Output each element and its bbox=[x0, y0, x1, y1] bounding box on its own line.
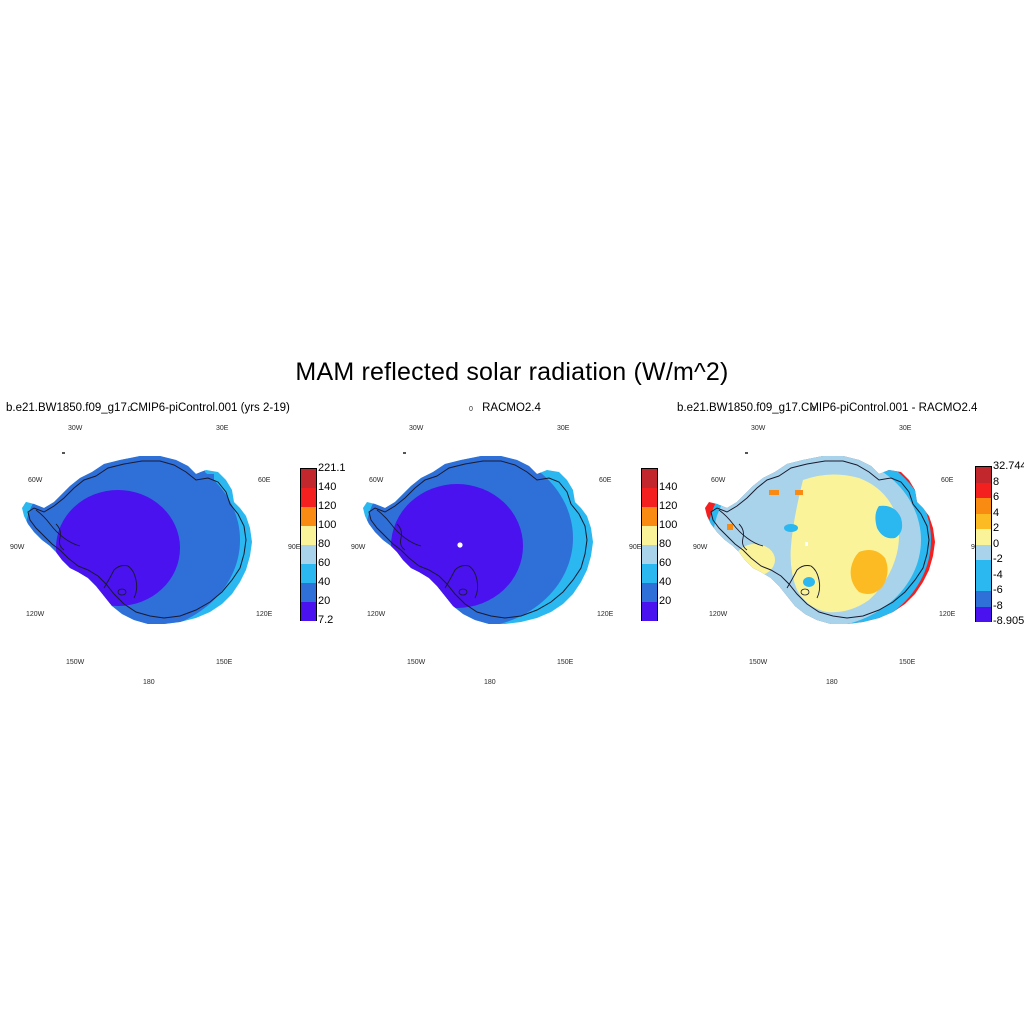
difference-field-p3 bbox=[683, 420, 973, 678]
region-outer-cyan-p1 bbox=[0, 420, 290, 678]
region-outer-cyan-p2 bbox=[341, 420, 631, 678]
panel-racmo: RACMO2.4 0 30W 30E 60W 60E 90W 90E 120W … bbox=[341, 398, 682, 688]
island-speck-p3 bbox=[745, 452, 748, 454]
cbar-tick-40-p1: 40 bbox=[318, 576, 330, 588]
cbar-tick-100-p2: 100 bbox=[659, 519, 677, 531]
lon-label-180-p1: 180 bbox=[143, 679, 155, 686]
lon-label-0-p3: 0 bbox=[811, 406, 815, 413]
map-antarctica-control bbox=[0, 420, 290, 678]
cbar-tick-100-p1: 100 bbox=[318, 519, 336, 531]
map-svg-p2 bbox=[341, 420, 631, 678]
cbar-tick-120-p1: 120 bbox=[318, 500, 336, 512]
colorbar-labels-p3: 32.744 8 6 4 2 0 -2 -4 -6 -8 -8.905 bbox=[993, 466, 1024, 621]
cbar-tick-0-p3: 0 bbox=[993, 538, 999, 550]
panel-3-title: b.e21.BW1850.f09_g17.CMIP6-piControl.001… bbox=[677, 402, 977, 414]
figure-title: MAM reflected solar radiation (W/m^2) bbox=[0, 358, 1024, 387]
panel-control: b.e21.BW1850.f09_g17.CMIP6-piControl.001… bbox=[0, 398, 341, 688]
lon-label-0-p1: 0 bbox=[128, 406, 132, 413]
figure-canvas: MAM reflected solar radiation (W/m^2) b.… bbox=[0, 0, 1024, 1024]
lon-label-0-p2: 0 bbox=[469, 406, 473, 413]
colorbar-p3[interactable]: 32.744 8 6 4 2 0 -2 -4 -6 -8 -8.905 bbox=[975, 466, 990, 621]
cbar-tick-60-p1: 60 bbox=[318, 557, 330, 569]
panel-difference: b.e21.BW1850.f09_g17.CMIP6-piControl.001… bbox=[683, 398, 1024, 688]
cbar-tick-120-p2: 120 bbox=[659, 500, 677, 512]
lon-label-180-p2: 180 bbox=[484, 679, 496, 686]
cbar-tick-80-p2: 80 bbox=[659, 538, 671, 550]
colorbar-p2[interactable]: 140 120 100 80 60 40 20 bbox=[641, 468, 656, 620]
cbar-min-p3: -8.905 bbox=[993, 615, 1024, 627]
cbar-tick-m8-p3: -8 bbox=[993, 600, 1003, 612]
island-speck-p2 bbox=[403, 452, 406, 454]
cbar-tick-140-p1: 140 bbox=[318, 481, 336, 493]
colorbar-p1[interactable]: 221.1 140 120 100 80 60 40 20 7.2 bbox=[300, 468, 315, 620]
cbar-tick-60-p2: 60 bbox=[659, 557, 671, 569]
island-speck-p1 bbox=[62, 452, 65, 454]
map-antarctica-difference bbox=[683, 420, 973, 678]
cbar-tick-m4-p3: -4 bbox=[993, 569, 1003, 581]
map-svg-p3 bbox=[683, 420, 973, 678]
cbar-tick-m6-p3: -6 bbox=[993, 584, 1003, 596]
panel-1-title: b.e21.BW1850.f09_g17.CMIP6-piControl.001… bbox=[6, 402, 290, 414]
cbar-tick-20-p1: 20 bbox=[318, 595, 330, 607]
lon-label-180-p3: 180 bbox=[826, 679, 838, 686]
panel-2-title: RACMO2.4 bbox=[341, 402, 682, 414]
cbar-tick-40-p2: 40 bbox=[659, 576, 671, 588]
cbar-tick-6-p3: 6 bbox=[993, 491, 999, 503]
cbar-tick-80-p1: 80 bbox=[318, 538, 330, 550]
pole-hole-p2 bbox=[457, 542, 462, 547]
cbar-tick-140-p2: 140 bbox=[659, 481, 677, 493]
cbar-tick-8-p3: 8 bbox=[993, 476, 999, 488]
cbar-tick-m2-p3: -2 bbox=[993, 553, 1003, 565]
cbar-tick-20-p2: 20 bbox=[659, 595, 671, 607]
map-antarctica-racmo bbox=[341, 420, 631, 678]
cbar-tick-4-p3: 4 bbox=[993, 507, 999, 519]
cbar-max-p3: 32.744 bbox=[993, 460, 1024, 472]
cbar-min-p1: 7.2 bbox=[318, 614, 333, 626]
cbar-tick-2-p3: 2 bbox=[993, 522, 999, 534]
map-svg-p1 bbox=[0, 420, 290, 678]
